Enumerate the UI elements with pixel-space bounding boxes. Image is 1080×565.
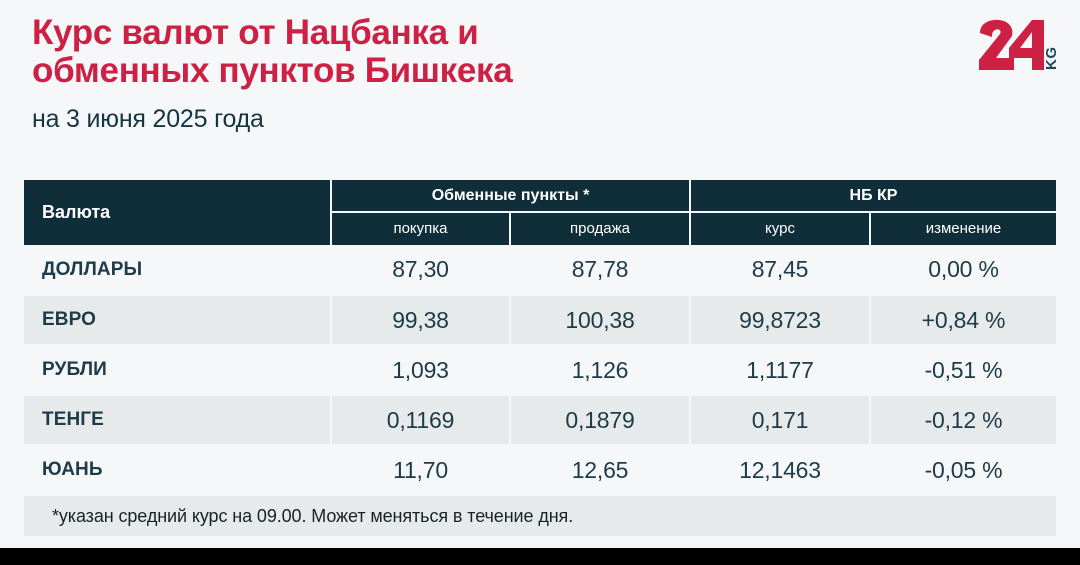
cell-rate: 87,45 — [690, 245, 870, 295]
cell-currency-name: ТЕНГЕ — [24, 395, 331, 445]
cell-currency-name: ЮАНЬ — [24, 445, 331, 495]
exchange-rate-table: Валюта Обменные пункты * НБ КР покупка п… — [24, 180, 1056, 536]
cell-rate: 1,1177 — [690, 345, 870, 395]
cell-change: +0,84 % — [870, 295, 1056, 345]
cell-rate: 0,171 — [690, 395, 870, 445]
table-body: ДОЛЛАРЫ 87,30 87,78 87,45 0,00 % ЕВРО 99… — [24, 245, 1056, 495]
cell-sell: 12,65 — [510, 445, 690, 495]
group-header-exchange-offices: Обменные пункты * — [331, 180, 690, 212]
cell-buy: 1,093 — [331, 345, 510, 395]
page-subtitle: на 3 июня 2025 года — [32, 105, 972, 133]
table-row: ЮАНЬ 11,70 12,65 12,1463 -0,05 % — [24, 445, 1056, 495]
page-title: Курс валют от Нацбанка и обменных пункто… — [32, 14, 972, 90]
table-row: ДОЛЛАРЫ 87,30 87,78 87,45 0,00 % — [24, 245, 1056, 295]
cell-change: -0,12 % — [870, 395, 1056, 445]
column-header-buy: покупка — [331, 212, 510, 245]
cell-buy: 0,1169 — [331, 395, 510, 445]
cell-change: 0,00 % — [870, 245, 1056, 295]
cell-sell: 1,126 — [510, 345, 690, 395]
table-footnote: *указан средний курс на 09.00. Может мен… — [24, 495, 1056, 536]
cell-rate: 12,1463 — [690, 445, 870, 495]
cell-currency-name: РУБЛИ — [24, 345, 331, 395]
column-header-sell: продажа — [510, 212, 690, 245]
header: Курс валют от Нацбанка и обменных пункто… — [32, 14, 972, 133]
logo-24kg: KG — [976, 18, 1062, 74]
cell-buy: 11,70 — [331, 445, 510, 495]
cell-buy: 99,38 — [331, 295, 510, 345]
cell-sell: 100,38 — [510, 295, 690, 345]
cell-currency-name: ДОЛЛАРЫ — [24, 245, 331, 295]
table-row: ЕВРО 99,38 100,38 99,8723 +0,84 % — [24, 295, 1056, 345]
cell-buy: 87,30 — [331, 245, 510, 295]
cell-rate: 99,8723 — [690, 295, 870, 345]
bottom-bar — [0, 548, 1080, 565]
cell-change: -0,05 % — [870, 445, 1056, 495]
logo-24kg-icon: KG — [976, 18, 1062, 74]
cell-sell: 87,78 — [510, 245, 690, 295]
svg-text:KG: KG — [1043, 47, 1060, 71]
column-header-rate: курс — [690, 212, 870, 245]
table-footer: *указан средний курс на 09.00. Может мен… — [24, 495, 1056, 536]
cell-change: -0,51 % — [870, 345, 1056, 395]
table-header: Валюта Обменные пункты * НБ КР покупка п… — [24, 180, 1056, 245]
table-row: ТЕНГЕ 0,1169 0,1879 0,171 -0,12 % — [24, 395, 1056, 445]
infographic-page: Курс валют от Нацбанка и обменных пункто… — [0, 0, 1080, 565]
cell-sell: 0,1879 — [510, 395, 690, 445]
table-row: РУБЛИ 1,093 1,126 1,1177 -0,51 % — [24, 345, 1056, 395]
column-header-currency: Валюта — [24, 180, 331, 245]
cell-currency-name: ЕВРО — [24, 295, 331, 345]
group-header-nbkr: НБ КР — [690, 180, 1056, 212]
column-header-change: изменение — [870, 212, 1056, 245]
